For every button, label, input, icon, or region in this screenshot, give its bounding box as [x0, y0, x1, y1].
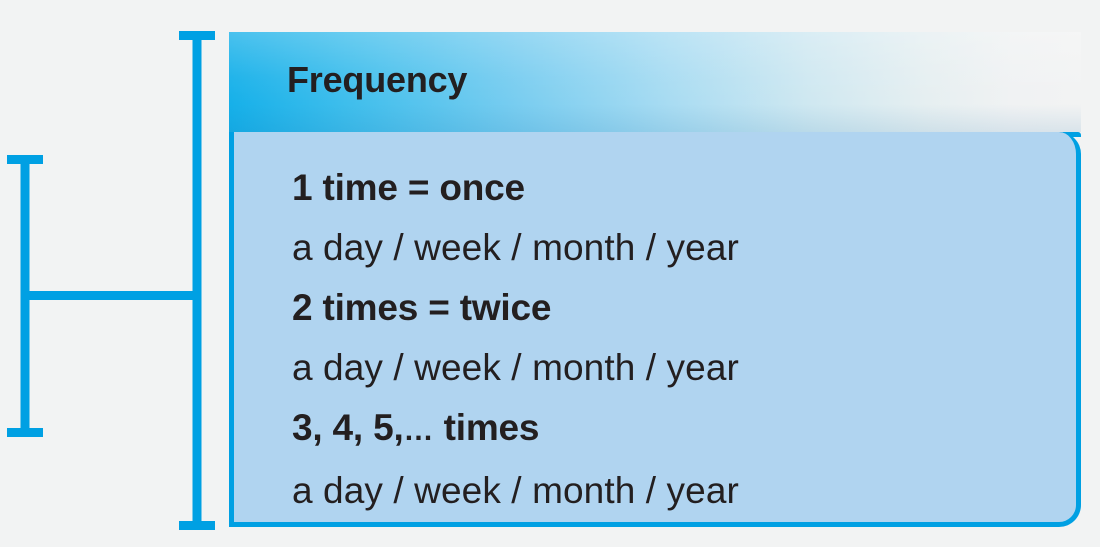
line-3-value: twice: [460, 287, 552, 328]
line-6-text: a day / week / month / year: [292, 470, 739, 511]
list-item: a day / week / month / year: [292, 461, 1052, 521]
line-5-ellipsis: …: [404, 414, 434, 447]
line-2-text: a day / week / month / year: [292, 227, 739, 268]
inner-bracket-bottom-cap: [7, 428, 43, 437]
outer-bracket-bottom-cap: [179, 521, 215, 530]
line-4-text: a day / week / month / year: [292, 347, 739, 388]
list-item: a day / week / month / year: [292, 338, 1052, 398]
outer-bracket-stem: [193, 31, 202, 530]
inner-bracket-top-cap: [7, 155, 43, 164]
outer-bracket: [179, 31, 215, 530]
page-title: Frequency: [287, 58, 467, 102]
frequency-card: Frequency 1 time = once a day / week / m…: [229, 32, 1081, 527]
line-5-value: times: [434, 407, 540, 448]
list-item: 1 time = once: [292, 158, 1052, 218]
line-5-subject: 3, 4, 5,: [292, 407, 404, 448]
line-1-value: once: [439, 167, 525, 208]
line-3-equals: =: [418, 287, 460, 328]
line-1-subject: 1 time: [292, 167, 398, 208]
frequency-line-list: 1 time = once a day / week / month / yea…: [292, 158, 1052, 521]
bracket-connector: [25, 291, 197, 300]
diagram-canvas: Frequency 1 time = once a day / week / m…: [0, 0, 1100, 547]
card-header: Frequency: [229, 32, 1081, 132]
line-3-subject: 2 times: [292, 287, 418, 328]
card-body: 1 time = once a day / week / month / yea…: [229, 132, 1081, 527]
list-item: 2 times = twice: [292, 278, 1052, 338]
line-1-equals: =: [398, 167, 440, 208]
list-item: 3, 4, 5,… times: [292, 398, 1052, 461]
list-item: a day / week / month / year: [292, 218, 1052, 278]
outer-bracket-top-cap: [179, 31, 215, 40]
